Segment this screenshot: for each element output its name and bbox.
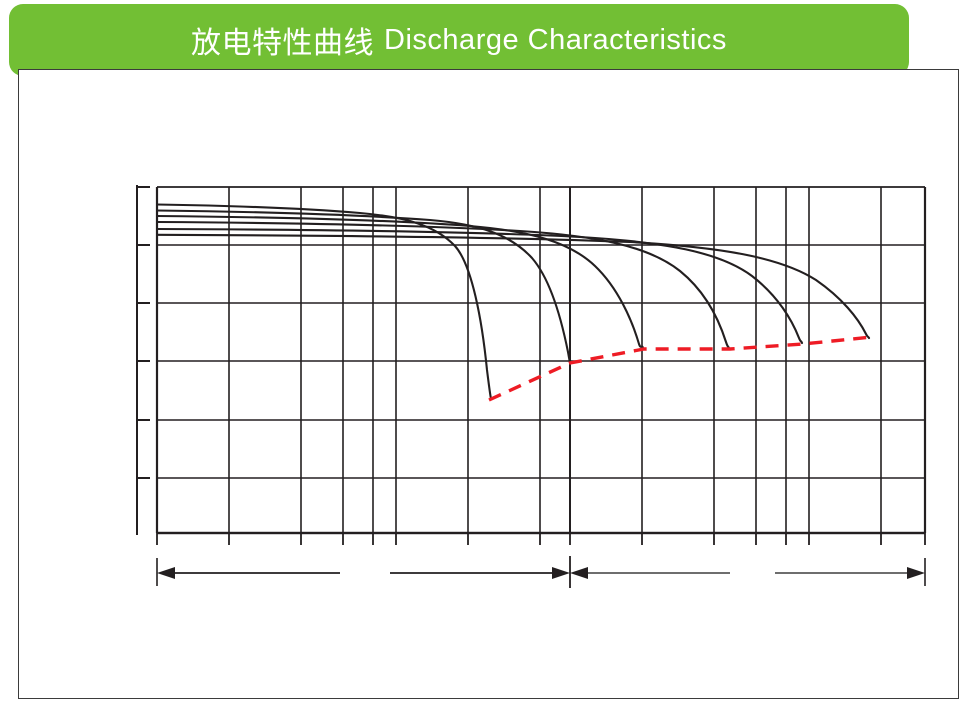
banner-title: 放电特性曲线 Discharge Characteristics <box>9 4 909 76</box>
discharge-characteristics-page: 放电特性曲线 Discharge Characteristics <box>0 0 977 706</box>
content-frame <box>18 69 959 699</box>
banner-title-en: Discharge Characteristics <box>384 24 727 57</box>
banner-title-cn: 放电特性曲线 <box>191 18 374 62</box>
